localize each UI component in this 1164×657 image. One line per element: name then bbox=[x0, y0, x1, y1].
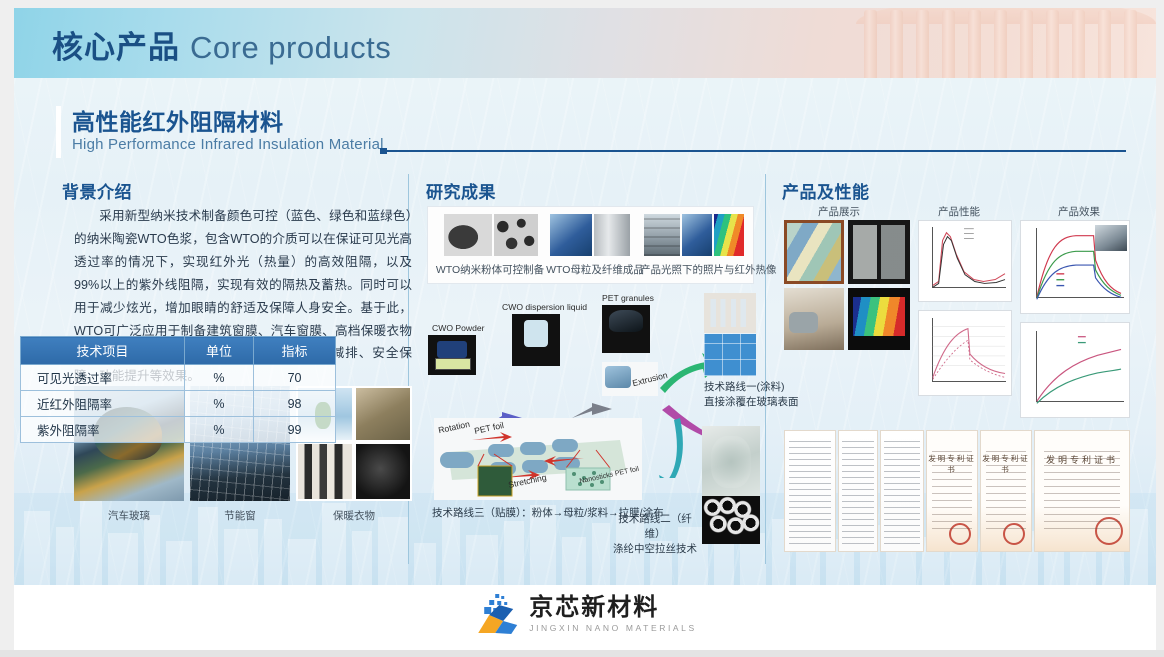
certificate-seal bbox=[1095, 517, 1123, 545]
table-header-value: 指标 bbox=[254, 337, 336, 365]
certificate-seal bbox=[1003, 523, 1025, 545]
cell-value: 99 bbox=[254, 417, 336, 443]
page-title-en: Core products bbox=[190, 30, 391, 65]
section-title-en: High Performance Infrared Insulation Mat… bbox=[72, 136, 384, 153]
column-divider-right bbox=[765, 174, 766, 564]
frame-edge-left bbox=[0, 0, 14, 657]
table-header-unit: 单位 bbox=[184, 337, 253, 365]
slide-header: 核心产品Core products bbox=[14, 8, 1156, 78]
right-column-title: 产品及性能 bbox=[782, 178, 870, 203]
cell-unit: % bbox=[184, 391, 253, 417]
image-coating-vials bbox=[704, 293, 756, 333]
cell-unit: % bbox=[184, 365, 253, 391]
image-wto-masterbatch bbox=[550, 214, 592, 256]
logo-name-en: JINGXIN NANO MATERIALS bbox=[529, 623, 697, 633]
subtitle-product-performance: 产品性能 bbox=[904, 204, 1014, 219]
section-rule bbox=[386, 150, 1126, 152]
image-wto-powder bbox=[444, 214, 492, 256]
slide-body: 高性能红外阻隔材料 High Performance Infrared Insu… bbox=[14, 78, 1156, 585]
image-hollow-fiber-sem bbox=[702, 496, 760, 544]
chart-irradiation-temperature bbox=[1020, 322, 1130, 418]
certificate-title: 发明专利证书 bbox=[1035, 453, 1129, 466]
table-row: 紫外阻隔率 % 99 bbox=[21, 417, 336, 443]
section-accent-bar bbox=[56, 106, 61, 158]
thumb-application-room bbox=[784, 288, 844, 350]
caption-wto-masterbatch: WTO母粒及纤维成品 bbox=[540, 262, 650, 277]
caption-ir-thermal: 产品光照下的照片与红外热像 bbox=[640, 262, 754, 277]
subtitle-product-display: 产品展示 bbox=[784, 204, 894, 219]
chart-transmittance-curve bbox=[918, 220, 1012, 302]
certificate-test-report-2 bbox=[838, 430, 878, 552]
frame-edge-right bbox=[1156, 0, 1164, 657]
thumb-glass-samples bbox=[784, 220, 844, 284]
thumb-material-bags bbox=[848, 220, 910, 284]
thumb-effect-demo bbox=[1095, 225, 1127, 251]
caption-wto-powder: WTO纳米粉体可控制备 bbox=[432, 262, 548, 277]
image-building-photo bbox=[644, 214, 680, 256]
table-header-item: 技术项目 bbox=[21, 337, 185, 365]
left-column-title: 背景介绍 bbox=[62, 178, 132, 203]
label-route-three: 技术路线三（贴膜）：粉体→母粒/浆料→拉膜/涂布 bbox=[432, 506, 664, 521]
certificate-title: 发明专利证书 bbox=[927, 453, 977, 475]
table-header-row: 技术项目 单位 指标 bbox=[21, 337, 336, 365]
logo-mark-icon bbox=[473, 593, 519, 635]
middle-column-title: 研究成果 bbox=[426, 178, 496, 203]
frame-edge-bottom bbox=[0, 650, 1164, 657]
page-title-cn: 核心产品 bbox=[52, 30, 180, 65]
image-fiber-roll bbox=[594, 214, 630, 256]
label-route-one: 技术路线一(涂料) 直接涂覆在玻璃表面 bbox=[704, 380, 799, 410]
chart-effect-blocking bbox=[1020, 220, 1130, 314]
table-row: 近红外阻隔率 % 98 bbox=[21, 391, 336, 417]
header-building-decoration bbox=[856, 8, 1156, 78]
image-film-stretching-process bbox=[434, 418, 642, 500]
caption-energy-window: 节能窗 bbox=[190, 508, 290, 523]
image-hollow-fiber-bag bbox=[702, 426, 760, 498]
slide-footer: 京芯新材料 JINGXIN NANO MATERIALS bbox=[14, 585, 1156, 650]
chart-temperature-curve bbox=[918, 310, 1012, 396]
specification-table: 技术项目 单位 指标 可见光透过率 % 70 近红外阻隔率 % 98 紫外阻隔率 bbox=[20, 336, 336, 443]
frame-edge-top bbox=[0, 0, 1164, 8]
cell-value: 98 bbox=[254, 391, 336, 417]
certificate-test-report-1 bbox=[784, 430, 836, 552]
image-coated-glass-test bbox=[704, 334, 756, 376]
logo-text: 京芯新材料 JINGXIN NANO MATERIALS bbox=[529, 595, 697, 632]
cell-item: 近红外阻隔率 bbox=[21, 391, 185, 417]
certificate-seal bbox=[949, 523, 971, 545]
certificate-title: 发明专利证书 bbox=[981, 453, 1031, 475]
thumb-ir-camera bbox=[848, 288, 910, 350]
subtitle-product-effect: 产品效果 bbox=[1024, 204, 1134, 219]
route-one-line1: 技术路线一(涂料) bbox=[704, 381, 785, 393]
certificate-patent-2: 发明专利证书 bbox=[980, 430, 1032, 552]
caption-car-glass: 汽车玻璃 bbox=[74, 508, 184, 523]
section-title-cn: 高性能红外阻隔材料 bbox=[72, 103, 284, 137]
caption-warm-clothing: 保暖衣物 bbox=[296, 508, 412, 523]
image-infrared-thermal bbox=[714, 214, 744, 256]
table-row: 可见光透过率 % 70 bbox=[21, 365, 336, 391]
route-two-line2: 涤纶中空拉丝技术 bbox=[613, 543, 697, 555]
cell-unit: % bbox=[184, 417, 253, 443]
page-title: 核心产品Core products bbox=[52, 22, 391, 67]
cell-item: 紫外阻隔率 bbox=[21, 417, 185, 443]
route-one-line2: 直接涂覆在玻璃表面 bbox=[704, 396, 799, 408]
cell-value: 70 bbox=[254, 365, 336, 391]
logo-name-cn: 京芯新材料 bbox=[529, 595, 697, 620]
image-product-sample bbox=[682, 214, 712, 256]
image-wto-sem bbox=[494, 214, 538, 256]
cell-item: 可见光透过率 bbox=[21, 365, 185, 391]
certificate-test-report-3 bbox=[880, 430, 924, 552]
research-results-card: WTO纳米粉体可控制备 WTO母粒及纤维成品 产品光照下的照片与红外热像 bbox=[427, 206, 754, 284]
certificate-patent-1: 发明专利证书 bbox=[926, 430, 978, 552]
certificate-patent-3: 发明专利证书 bbox=[1034, 430, 1130, 552]
slide-canvas: 核心产品Core products bbox=[0, 0, 1164, 657]
company-logo: 京芯新材料 JINGXIN NANO MATERIALS bbox=[473, 593, 697, 635]
